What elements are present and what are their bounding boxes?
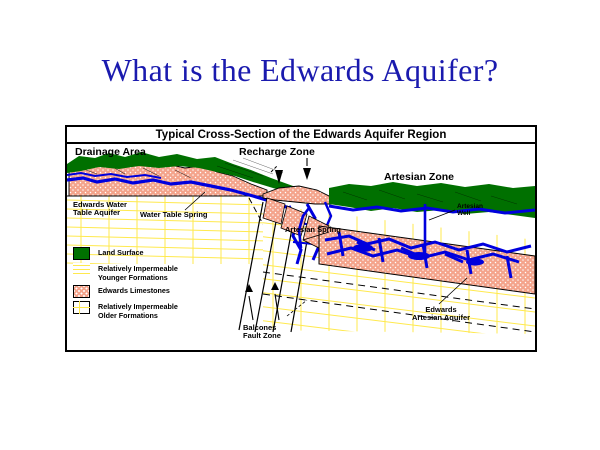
legend-swatch-land-surface bbox=[73, 247, 90, 260]
page-title: What is the Edwards Aquifer? bbox=[0, 52, 600, 89]
figure-legend: Land Surface Relatively Impermeable Youn… bbox=[73, 247, 223, 323]
legend-line-1: Relatively Impermeable bbox=[98, 302, 178, 311]
legend-label-younger-formations: Relatively Impermeable Younger Formation… bbox=[98, 263, 178, 282]
label-line-2: Well bbox=[457, 211, 483, 218]
legend-label-land-surface: Land Surface bbox=[98, 247, 144, 257]
legend-item-younger-formations: Relatively Impermeable Younger Formation… bbox=[73, 263, 223, 282]
label-edwards-artesian-aquifer: Edwards Artesian Aquifer bbox=[412, 306, 470, 322]
legend-swatch-younger-formations bbox=[73, 263, 90, 276]
legend-line-1: Land Surface bbox=[98, 248, 144, 257]
label-recharge-zone: Recharge Zone bbox=[239, 147, 315, 158]
legend-item-edwards-limestones: Edwards Limestones bbox=[73, 285, 223, 298]
legend-item-older-formations: Relatively Impermeable Older Formations bbox=[73, 301, 223, 320]
label-edwards-water-table-aquifer: Edwards Water Table Aquifer bbox=[73, 201, 127, 217]
legend-line-2: Older Formations bbox=[98, 311, 178, 320]
figure-caption: Typical Cross-Section of the Edwards Aqu… bbox=[67, 127, 535, 144]
legend-label-edwards-limestones: Edwards Limestones bbox=[98, 285, 170, 295]
label-artesian-zone: Artesian Zone bbox=[384, 172, 454, 183]
label-drainage-area: Drainage Area bbox=[75, 147, 146, 158]
legend-line-2: Younger Formations bbox=[98, 273, 178, 282]
legend-item-land-surface: Land Surface bbox=[73, 247, 223, 260]
label-line-2: Fault Zone bbox=[243, 332, 281, 340]
cross-section-figure: Typical Cross-Section of the Edwards Aqu… bbox=[65, 125, 537, 352]
label-water-table-spring: Water Table Spring bbox=[140, 211, 208, 219]
legend-label-older-formations: Relatively Impermeable Older Formations bbox=[98, 301, 178, 320]
label-line-2: Artesian Aquifer bbox=[412, 314, 470, 322]
label-balcones-fault-zone: Balcones Fault Zone bbox=[243, 324, 281, 340]
legend-line-1: Edwards Limestones bbox=[98, 286, 170, 295]
label-artesian-well: Artesian Well bbox=[457, 204, 483, 218]
label-artesian-spring: Artesian Spring bbox=[285, 226, 341, 234]
figure-body: Drainage Area Recharge Zone Artesian Zon… bbox=[67, 144, 535, 352]
recharge-zone-arrows bbox=[271, 158, 311, 184]
label-line-2: Table Aquifer bbox=[73, 209, 127, 217]
legend-line-1: Relatively Impermeable bbox=[98, 264, 178, 273]
legend-swatch-older-formations bbox=[73, 301, 90, 314]
legend-swatch-edwards-limestones bbox=[73, 285, 90, 298]
